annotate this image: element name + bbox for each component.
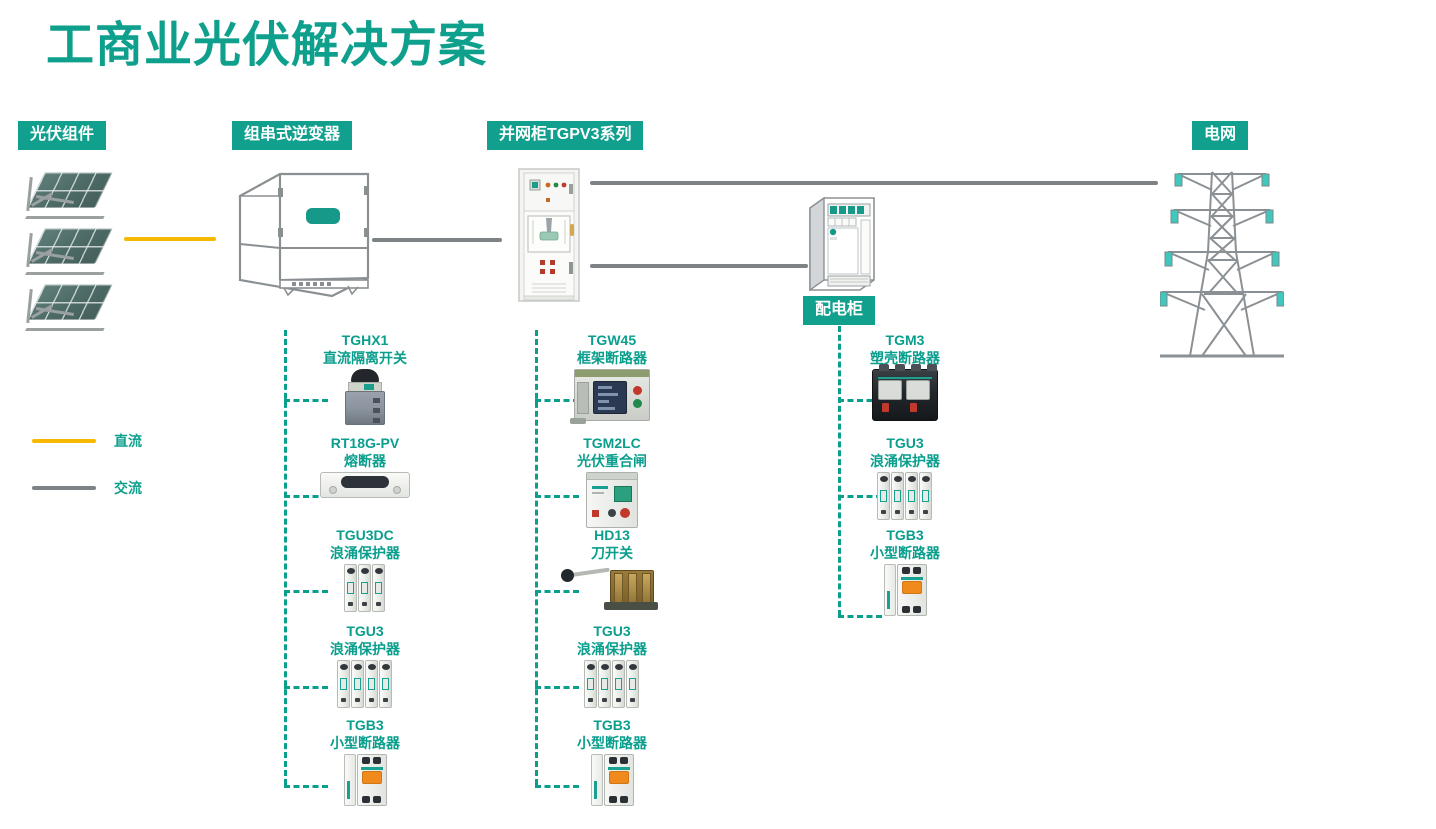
surge-protector-icon <box>285 660 445 718</box>
legend-item-ac: 交流 <box>32 478 142 498</box>
component-item[interactable]: TGM2LC 光伏重合闸 <box>532 435 692 530</box>
component-item[interactable]: TGB3 小型断路器 <box>825 527 985 622</box>
molded-case-circuit-breaker-icon <box>825 369 985 427</box>
spd-body <box>877 472 933 520</box>
legend-swatch-dc <box>32 439 96 443</box>
miniature-circuit-breaker-icon <box>825 564 985 622</box>
surge-protector-dc-icon <box>285 564 445 622</box>
spd-body <box>337 660 393 708</box>
miniature-circuit-breaker-icon <box>285 754 445 812</box>
stage-badge-pv-modules: 光伏组件 <box>18 121 106 150</box>
component-code: TGU3DC <box>285 527 445 545</box>
component-item[interactable]: TGW45 框架断路器 <box>532 332 692 427</box>
pv-recloser-icon <box>532 472 692 530</box>
component-name: 直流隔离开关 <box>285 350 445 368</box>
component-name: 浪涌保护器 <box>532 641 692 659</box>
air-circuit-breaker-icon <box>532 369 692 427</box>
legend-item-dc: 直流 <box>32 431 142 451</box>
fuse-holder-icon <box>285 472 445 530</box>
dc-connector-line <box>124 237 216 241</box>
component-item[interactable]: TGU3 浪涌保护器 <box>825 435 985 530</box>
component-code: HD13 <box>532 527 692 545</box>
panel-base <box>25 328 104 331</box>
ac-connector-line-inverter-to-grid-cabinet <box>372 238 502 242</box>
knife-switch-body <box>564 564 660 610</box>
component-code: TGHX1 <box>285 332 445 350</box>
distribution-cabinet-svg <box>808 196 876 292</box>
component-item[interactable]: TGM3 塑壳断路器 <box>825 332 985 427</box>
component-name: 浪涌保护器 <box>825 453 985 471</box>
miniature-circuit-breaker-icon <box>532 754 692 812</box>
component-name: 浪涌保护器 <box>285 545 445 563</box>
component-item[interactable]: TGHX1 直流隔离开关 <box>285 332 445 427</box>
stage-badge-distribution-cabinet: 配电柜 <box>803 296 875 325</box>
mcb-body <box>344 754 387 806</box>
component-name: 小型断路器 <box>532 735 692 753</box>
acb-body <box>574 369 650 421</box>
legend-swatch-ac <box>32 486 96 490</box>
surge-protector-icon <box>825 472 985 530</box>
component-name: 熔断器 <box>285 453 445 471</box>
component-name: 框架断路器 <box>532 350 692 368</box>
dc-isolator-icon <box>285 369 445 427</box>
mcb-body <box>884 564 927 616</box>
component-item[interactable]: TGB3 小型断路器 <box>285 717 445 812</box>
transmission-tower-icon <box>1160 160 1284 360</box>
component-code: TGU3 <box>285 623 445 641</box>
grid-cabinet-svg <box>518 168 580 302</box>
isolator-tab <box>364 384 374 390</box>
surge-protector-icon <box>532 660 692 718</box>
panel-base <box>25 272 104 275</box>
component-code: TGB3 <box>532 717 692 735</box>
component-code: TGB3 <box>825 527 985 545</box>
component-name: 小型断路器 <box>825 545 985 563</box>
isolator-body <box>342 369 388 425</box>
ac-connector-line-grid-cabinet-to-tower <box>590 181 1158 185</box>
fuse-grip <box>341 476 389 488</box>
mccb-body <box>872 369 938 421</box>
component-item[interactable]: RT18G-PV 熔断器 <box>285 435 445 530</box>
component-code: TGU3 <box>532 623 692 641</box>
component-name: 刀开关 <box>532 545 692 563</box>
panel-base <box>25 216 104 219</box>
string-inverter-icon <box>232 168 372 303</box>
recloser-body <box>586 472 638 528</box>
component-item[interactable]: HD13 刀开关 <box>532 527 692 622</box>
stage-badge-power-grid: 电网 <box>1192 121 1248 150</box>
inverter-svg <box>232 168 372 303</box>
ac-connector-line-grid-cabinet-to-distribution <box>590 264 808 268</box>
component-name: 小型断路器 <box>285 735 445 753</box>
component-item[interactable]: TGU3 浪涌保护器 <box>285 623 445 718</box>
tower-svg <box>1160 160 1284 360</box>
legend-label-ac: 交流 <box>114 478 142 498</box>
spd-body <box>344 564 386 612</box>
legend-label-dc: 直流 <box>114 431 142 451</box>
component-code: RT18G-PV <box>285 435 445 453</box>
component-name: 光伏重合闸 <box>532 453 692 471</box>
stage-badge-string-inverter: 组串式逆变器 <box>232 121 352 150</box>
component-code: TGW45 <box>532 332 692 350</box>
mcb-body <box>591 754 634 806</box>
component-item[interactable]: TGU3DC 浪涌保护器 <box>285 527 445 622</box>
isolator-base <box>345 391 385 425</box>
solar-panel-icon <box>22 168 108 222</box>
component-code: TGM2LC <box>532 435 692 453</box>
stage-badge-grid-cabinet: 并网柜TGPV3系列 <box>487 121 643 150</box>
component-item[interactable]: TGB3 小型断路器 <box>532 717 692 812</box>
spd-body <box>584 660 640 708</box>
fuse-body <box>320 472 410 498</box>
solar-panel-icon <box>22 224 108 278</box>
component-code: TGM3 <box>825 332 985 350</box>
component-code: TGB3 <box>285 717 445 735</box>
component-item[interactable]: TGU3 浪涌保护器 <box>532 623 692 718</box>
solution-diagram-canvas: 工商业光伏解决方案 光伏组件 组串式逆变器 并网柜TGPV3系列 配电柜 电网 … <box>0 0 1436 829</box>
component-name: 塑壳断路器 <box>825 350 985 368</box>
knife-switch-icon <box>532 564 692 622</box>
distribution-cabinet-icon <box>808 196 876 292</box>
grid-connection-cabinet-icon <box>518 168 580 302</box>
component-code: TGU3 <box>825 435 985 453</box>
solar-panel-icon <box>22 280 108 334</box>
page-title: 工商业光伏解决方案 <box>46 22 487 70</box>
component-name: 浪涌保护器 <box>285 641 445 659</box>
